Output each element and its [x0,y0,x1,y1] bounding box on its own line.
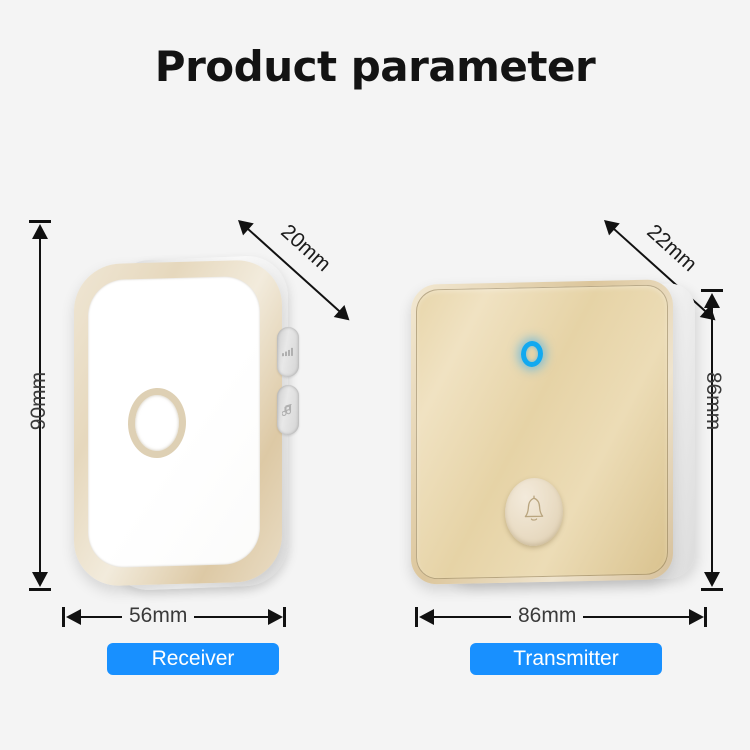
transmitter-device-image [405,276,700,588]
transmitter-label-badge: Transmitter [470,643,662,675]
width-cap-left [415,607,418,627]
arrow-down-icon [704,572,720,587]
music-note-icon [277,385,299,436]
page-title: Product parameter [0,42,750,91]
arrow-down-icon [32,572,48,587]
receiver-melody-button [277,385,299,436]
arrow-left-icon [66,609,81,625]
width-cap-right [283,607,286,627]
height-cap-bottom [29,588,51,591]
transmitter-depth-label: 22mm [642,220,701,277]
product-parameter-page: Product parameter 90mm 20mm [0,0,750,750]
receiver-label-badge: Receiver [107,643,279,675]
height-cap-top [29,220,51,223]
arrow-right-icon [689,609,704,625]
receiver-width-label: 56mm [122,604,194,628]
width-cap-left [62,607,65,627]
height-cap-bottom [701,588,723,591]
width-cap-right [704,607,707,627]
arrow-left-icon [419,609,434,625]
volume-icon [277,327,299,378]
arrow-right-icon [268,609,283,625]
transmitter-height-label: 86mm [701,351,725,451]
receiver-volume-button [277,327,299,378]
receiver-height-label: 90mm [27,351,51,451]
height-cap-top [701,289,723,292]
transmitter-width-label: 86mm [511,604,583,628]
bell-icon [521,494,547,530]
